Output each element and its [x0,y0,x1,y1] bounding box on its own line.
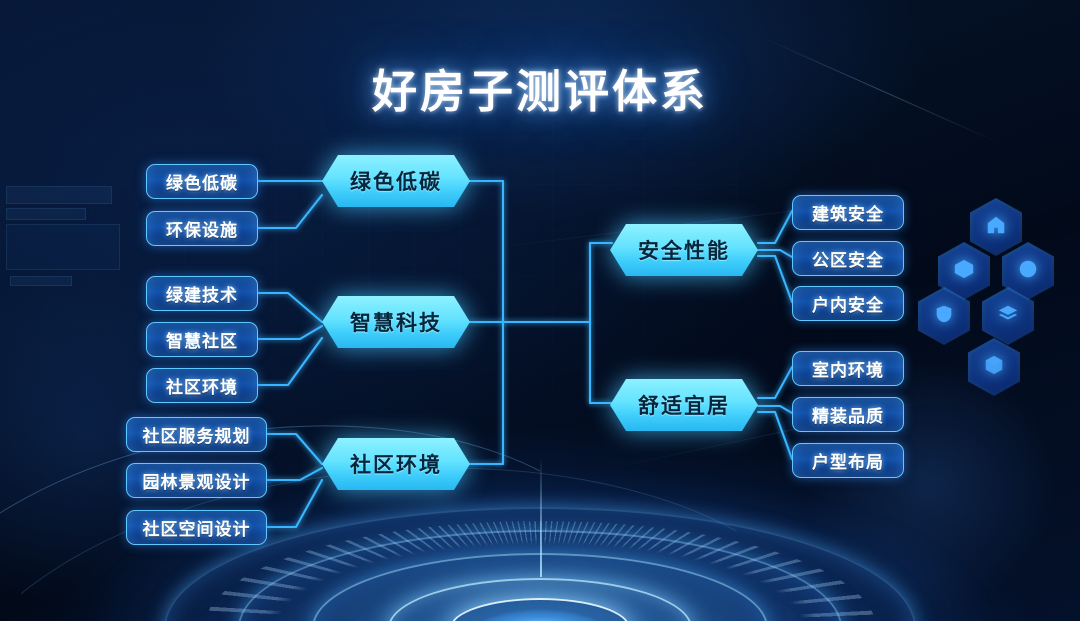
leaf-label: 社区服务规划 [143,422,251,447]
node-community-environment[interactable]: 社区环境 [322,438,470,490]
node-label: 智慧科技 [350,307,442,337]
node-label: 绿色低碳 [350,166,442,196]
cube-icon [983,354,1005,381]
node-comfortable-living[interactable]: 舒适宜居 [610,379,758,431]
leaf-label: 环保设施 [166,216,238,241]
leaf-pill-community-environment[interactable]: 社区环境 [146,368,258,403]
leaf-pill-community-space-design[interactable]: 社区空间设计 [126,510,267,545]
honeycomb-cell [970,198,1022,256]
leaf-label: 户型布局 [812,448,884,473]
hexagon-icon [953,258,975,285]
leaf-label: 社区环境 [166,373,238,398]
leaf-label: 社区空间设计 [143,515,251,540]
leaf-pill-finishing-quality[interactable]: 精装品质 [792,397,904,432]
leaf-label: 绿建技术 [166,281,238,306]
leaf-pill-public-area-safety[interactable]: 公区安全 [792,241,904,276]
leaf-pill-unit-layout[interactable]: 户型布局 [792,443,904,478]
node-label: 舒适宜居 [638,390,730,420]
node-label: 安全性能 [638,235,730,265]
leaf-pill-green-building-tech[interactable]: 绿建技术 [146,276,258,311]
leaf-label: 建筑安全 [812,200,884,225]
node-safety-performance[interactable]: 安全性能 [610,224,758,276]
honeycomb-cell [968,338,1020,396]
background-hud-panels [0,180,130,310]
layers-icon [997,303,1019,330]
page-title: 好房子测评体系 [0,55,1080,120]
leaf-label: 户内安全 [812,291,884,316]
leaf-label: 室内环境 [812,356,884,381]
leaf-label: 精装品质 [812,402,884,427]
home-icon [985,214,1007,241]
node-smart-technology[interactable]: 智慧科技 [322,296,470,348]
leaf-pill-indoor-environment[interactable]: 室内环境 [792,351,904,386]
leaf-pill-smart-community[interactable]: 智慧社区 [146,322,258,357]
leaf-label: 智慧社区 [166,327,238,352]
leaf-label: 绿色低碳 [166,169,238,194]
leaf-pill-community-service-plan[interactable]: 社区服务规划 [126,417,267,452]
node-green-low-carbon[interactable]: 绿色低碳 [322,155,470,207]
leaf-pill-eco-facilities[interactable]: 环保设施 [146,211,258,246]
leaf-pill-indoor-safety[interactable]: 户内安全 [792,286,904,321]
leaf-pill-landscape-design[interactable]: 园林景观设计 [126,463,267,498]
leaf-label: 公区安全 [812,246,884,271]
shield-icon [933,303,955,330]
circle-icon [1017,258,1039,285]
infographic-canvas: 好房子测评体系 [0,0,1080,621]
honeycomb-decoration [938,198,1054,403]
leaf-pill-building-safety[interactable]: 建筑安全 [792,195,904,230]
leaf-pill-green-low-carbon[interactable]: 绿色低碳 [146,164,258,199]
leaf-label: 园林景观设计 [143,468,251,493]
node-label: 社区环境 [350,449,442,479]
